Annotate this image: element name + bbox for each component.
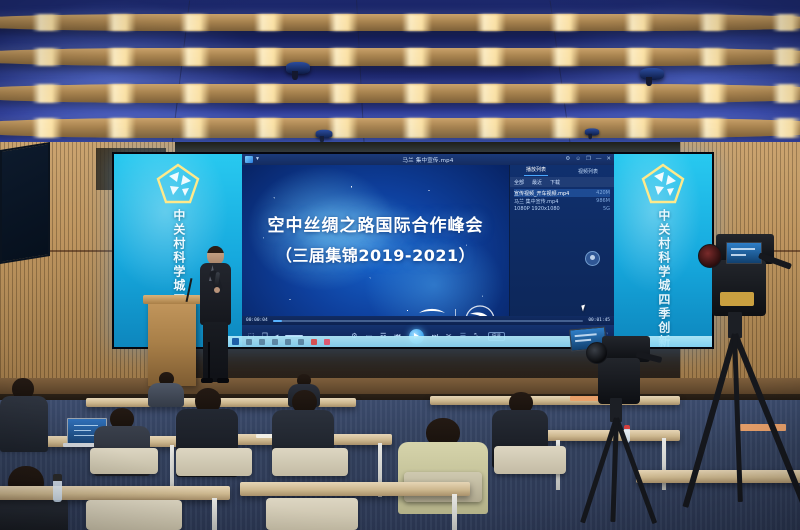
total-time: 00:01:45	[588, 318, 610, 323]
presenter-hand	[214, 287, 220, 293]
user-icon[interactable]: ☺	[575, 157, 581, 163]
ceiling-slat	[0, 14, 800, 31]
restore-icon[interactable]: ❐	[586, 157, 591, 163]
podium-top	[143, 295, 201, 304]
conference-hall-photo: 中关村科学城四季创新 中关村科学城四季创新	[0, 0, 800, 530]
person-torso	[0, 396, 48, 452]
taskbar-item-mail[interactable]	[272, 339, 278, 345]
tripod-leg	[614, 417, 657, 524]
pentagon-star-logo-icon	[155, 162, 201, 206]
desk	[240, 482, 470, 496]
wall-monitor	[0, 142, 50, 264]
chair	[272, 448, 348, 476]
desk-leg	[452, 494, 457, 530]
taskbar-item-pdf[interactable]	[311, 339, 317, 345]
slide-title: 空中丝绸之路国际合作峰会 （三届集锦2019-2021）	[242, 211, 509, 266]
camera-lens	[698, 244, 722, 268]
list-item-name: 马兰 集中宣传.mp4	[514, 198, 558, 205]
minimize-icon[interactable]: —	[596, 157, 602, 163]
ceiling-lights	[0, 48, 800, 66]
seek-track[interactable]	[273, 320, 584, 322]
laptop-content-line	[74, 430, 91, 431]
media-player-window[interactable]: ▼ 马兰 集中宣传.mp4 ⚙ ☺ ❐ — ✕ 空中丝绸之路国际合作峰会	[242, 154, 614, 347]
list-item[interactable]: 宣传视频_开车视频.mp4 420M	[514, 189, 610, 197]
camera-accessory	[720, 292, 754, 306]
column-all[interactable]: 全部	[514, 179, 524, 186]
list-item-size: 986M	[593, 198, 610, 204]
settings-icon[interactable]: ⚙	[565, 157, 570, 163]
taskbar-item-word[interactable]	[298, 339, 304, 345]
list-item-name: 宣传视频_开车视频.mp4	[514, 190, 569, 197]
window-controls[interactable]: ⚙ ☺ ❐ — ✕	[565, 157, 611, 163]
player-title-bar[interactable]: ▼ 马兰 集中宣传.mp4 ⚙ ☺ ❐ — ✕	[242, 154, 614, 165]
water-bottle	[53, 480, 62, 502]
ceiling-projector	[286, 62, 310, 74]
current-time: 00:00:04	[246, 318, 268, 323]
camera-lens	[586, 342, 608, 364]
ceiling-lights	[0, 118, 800, 138]
list-item-size: 5G	[600, 206, 610, 212]
list-item-name: 1080P 1920x1080	[514, 206, 560, 212]
column-recent[interactable]: 最近	[532, 179, 542, 186]
player-file-title: 马兰 集中宣传.mp4	[242, 156, 614, 164]
tripod-leg	[732, 333, 800, 506]
playlist-tabs[interactable]: 播放列表 视频列表	[510, 165, 614, 177]
backdrop-right: 中关村科学城四季创新	[614, 154, 712, 347]
chair	[86, 500, 182, 530]
bottle-cap	[53, 474, 62, 481]
seek-bar[interactable]: 00:00:04 00:01:45	[242, 316, 614, 325]
ceiling-slat	[0, 84, 800, 103]
slide-title-line1: 空中丝绸之路国际合作峰会	[242, 211, 509, 236]
list-item-size: 420M	[593, 190, 610, 196]
chair	[494, 446, 566, 474]
banner-vertical-text: 中关村科学城四季创新	[656, 209, 670, 349]
pentagon-star-logo-icon	[640, 162, 686, 206]
ceiling-projector	[640, 68, 664, 80]
chair	[176, 448, 252, 476]
desk-leg	[212, 498, 217, 530]
ceiling-lights	[0, 14, 800, 31]
ceiling-slat	[0, 48, 800, 66]
camera-monitor-screen	[727, 243, 761, 263]
playlist-rows: 宣传视频_开车视频.mp4 420M 马兰 集中宣传.mp4 986M 1080…	[510, 187, 614, 215]
laptop-content-line	[74, 435, 95, 436]
user-avatar-icon[interactable]	[585, 251, 600, 266]
ceiling-projector	[585, 128, 599, 135]
tab-video-list[interactable]: 视频列表	[562, 168, 614, 175]
taskbar-item-player[interactable]	[324, 339, 330, 345]
slide-title-line2: （三届集锦2019-2021）	[242, 242, 509, 266]
close-icon[interactable]: ✕	[606, 157, 611, 163]
presenter-legs	[203, 322, 228, 382]
tab-playlist[interactable]: 播放列表	[510, 166, 562, 176]
camera-monitor-line	[731, 248, 755, 250]
ceiling	[0, 0, 800, 150]
presenter-leg-split	[208, 342, 210, 380]
ceiling-lights	[0, 84, 800, 103]
presenter	[196, 246, 238, 386]
presenter-shoe	[217, 378, 229, 383]
presenter-shoe	[201, 378, 213, 383]
audience-member	[0, 378, 48, 448]
camera-monitor	[726, 242, 762, 264]
ceiling-slat	[0, 118, 800, 138]
camera-housing	[712, 260, 766, 316]
taskbar-item-folder[interactable]	[285, 339, 291, 345]
taskbar-item-explorer[interactable]	[246, 339, 252, 345]
chair	[90, 448, 158, 474]
camera-monitor-line	[731, 254, 746, 256]
playlist-columns[interactable]: 全部 最近 下载	[510, 177, 614, 187]
mouse-cursor-icon	[581, 305, 586, 312]
ceiling-projector	[316, 130, 333, 138]
column-download[interactable]: 下载	[550, 179, 560, 186]
list-item[interactable]: 1080P 1920x1080 5G	[514, 205, 610, 213]
seek-progress	[273, 320, 282, 322]
taskbar-item-browser[interactable]	[259, 339, 265, 345]
chair	[266, 498, 358, 530]
list-item[interactable]: 马兰 集中宣传.mp4 986M	[514, 197, 610, 205]
desk	[0, 486, 230, 500]
video-camera-right	[712, 234, 800, 530]
